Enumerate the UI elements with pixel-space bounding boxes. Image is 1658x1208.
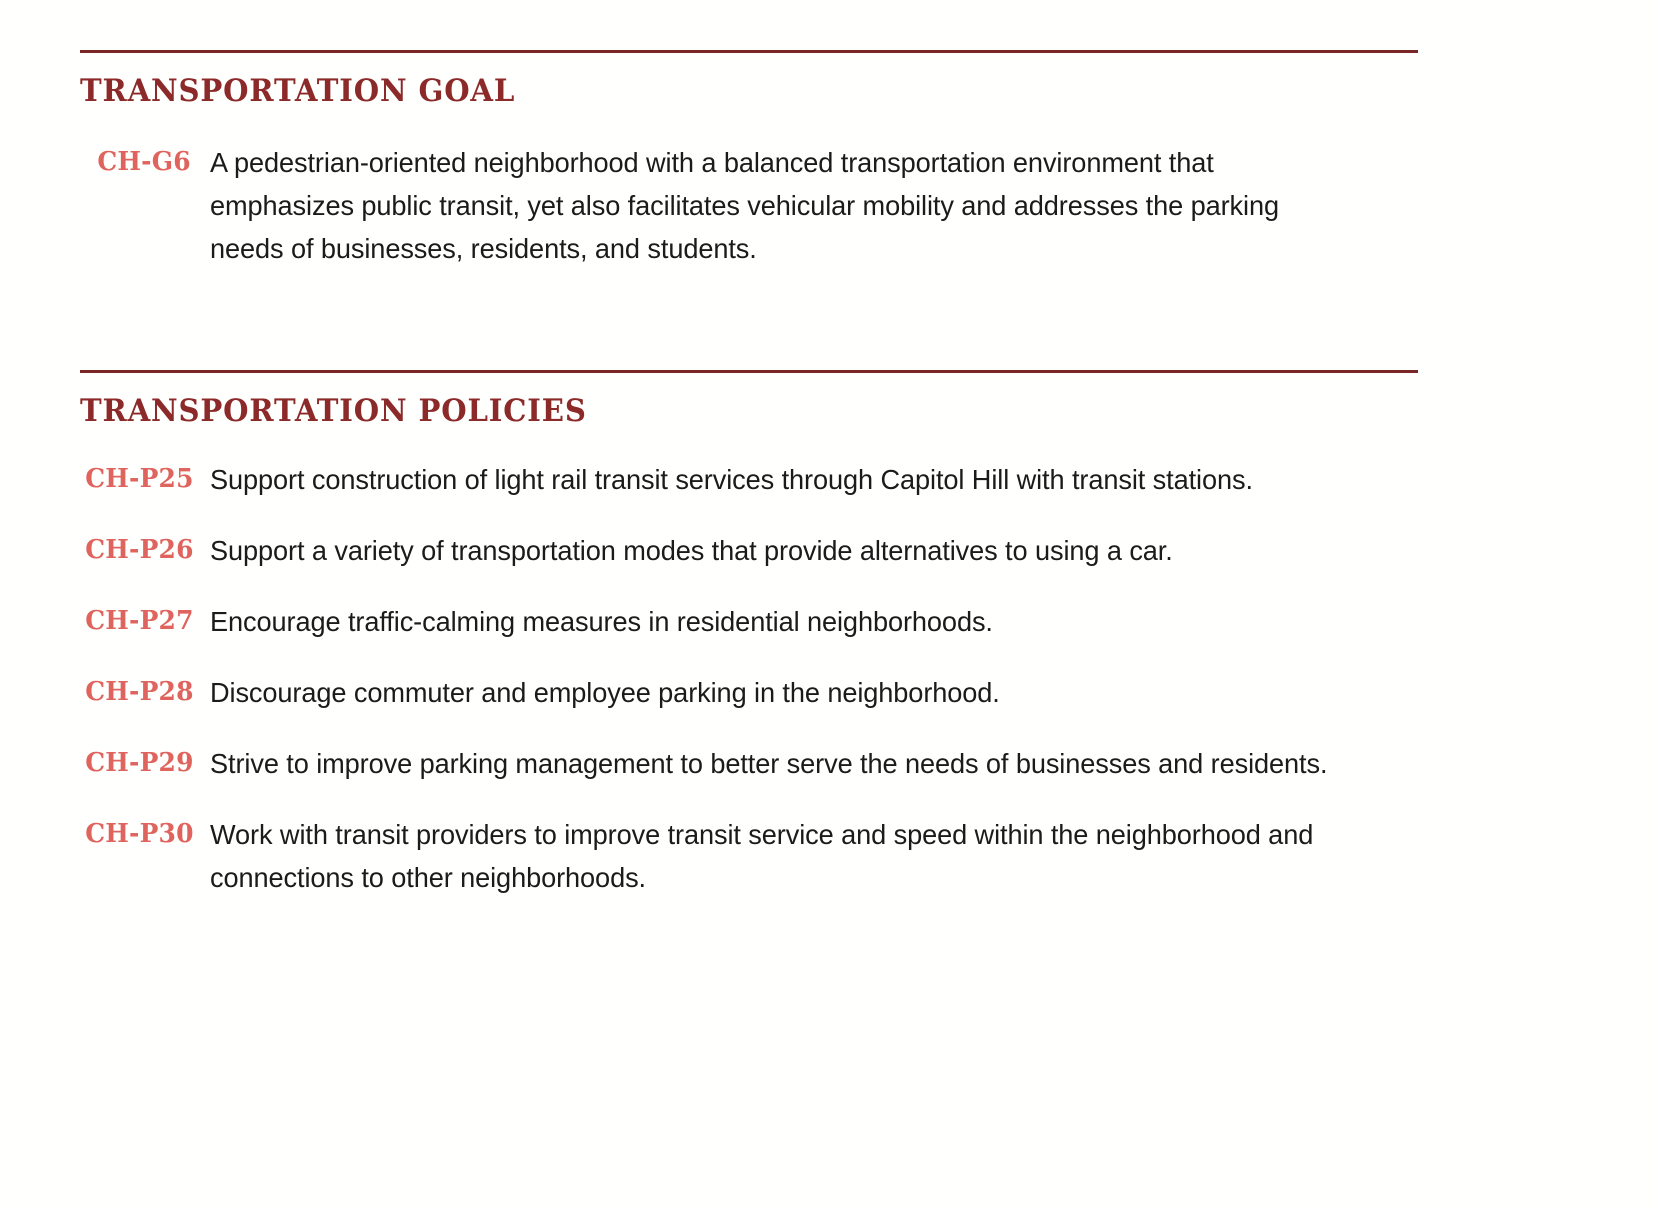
document-page: TRANSPORTATION GOAL CH-G6 A pedestrian-o… (0, 0, 1658, 1208)
policy-entry: CH-P26 Support a variety of transportati… (80, 529, 1418, 572)
entry-code-label: CH-P26 (85, 529, 210, 572)
entry-code-label: CH-G6 (85, 141, 210, 184)
entry-code-label: CH-P28 (85, 671, 210, 714)
goal-entry: CH-G6 A pedestrian-oriented neighborhood… (80, 141, 1418, 270)
policy-entry-list: CH-P25 Support construction of light rai… (80, 458, 1418, 899)
entry-body-text: A pedestrian-oriented neighborhood with … (210, 141, 1350, 270)
policy-entry: CH-P27 Encourage traffic-calming measure… (80, 600, 1418, 643)
section-heading-transportation-goal: TRANSPORTATION GOAL (80, 75, 1338, 108)
entry-code-label: CH-P30 (85, 813, 210, 856)
policy-entry: CH-P29 Strive to improve parking managem… (80, 742, 1418, 785)
entry-code-label: CH-P25 (85, 458, 210, 501)
section-transportation-goal: TRANSPORTATION GOAL CH-G6 A pedestrian-o… (80, 50, 1418, 270)
section-transportation-policies: TRANSPORTATION POLICIES CH-P25 Support c… (80, 370, 1418, 899)
entry-body-text: Work with transit providers to improve t… (210, 813, 1350, 899)
section-divider-rule (80, 370, 1418, 373)
policy-entry: CH-P30 Work with transit providers to im… (80, 813, 1418, 899)
entry-body-text: Strive to improve parking management to … (210, 742, 1350, 785)
section-divider-rule (80, 50, 1418, 53)
entry-body-text: Support construction of light rail trans… (210, 458, 1350, 501)
entry-code-label: CH-P29 (85, 742, 210, 785)
entry-body-text: Encourage traffic-calming measures in re… (210, 600, 1350, 643)
policy-entry: CH-P25 Support construction of light rai… (80, 458, 1418, 501)
entry-code-label: CH-P27 (85, 600, 210, 643)
entry-body-text: Support a variety of transportation mode… (210, 529, 1350, 572)
policy-entry: CH-P28 Discourage commuter and employee … (80, 671, 1418, 714)
section-heading-transportation-policies: TRANSPORTATION POLICIES (80, 395, 1338, 428)
entry-body-text: Discourage commuter and employee parking… (210, 671, 1350, 714)
goal-entry-list: CH-G6 A pedestrian-oriented neighborhood… (80, 141, 1418, 270)
